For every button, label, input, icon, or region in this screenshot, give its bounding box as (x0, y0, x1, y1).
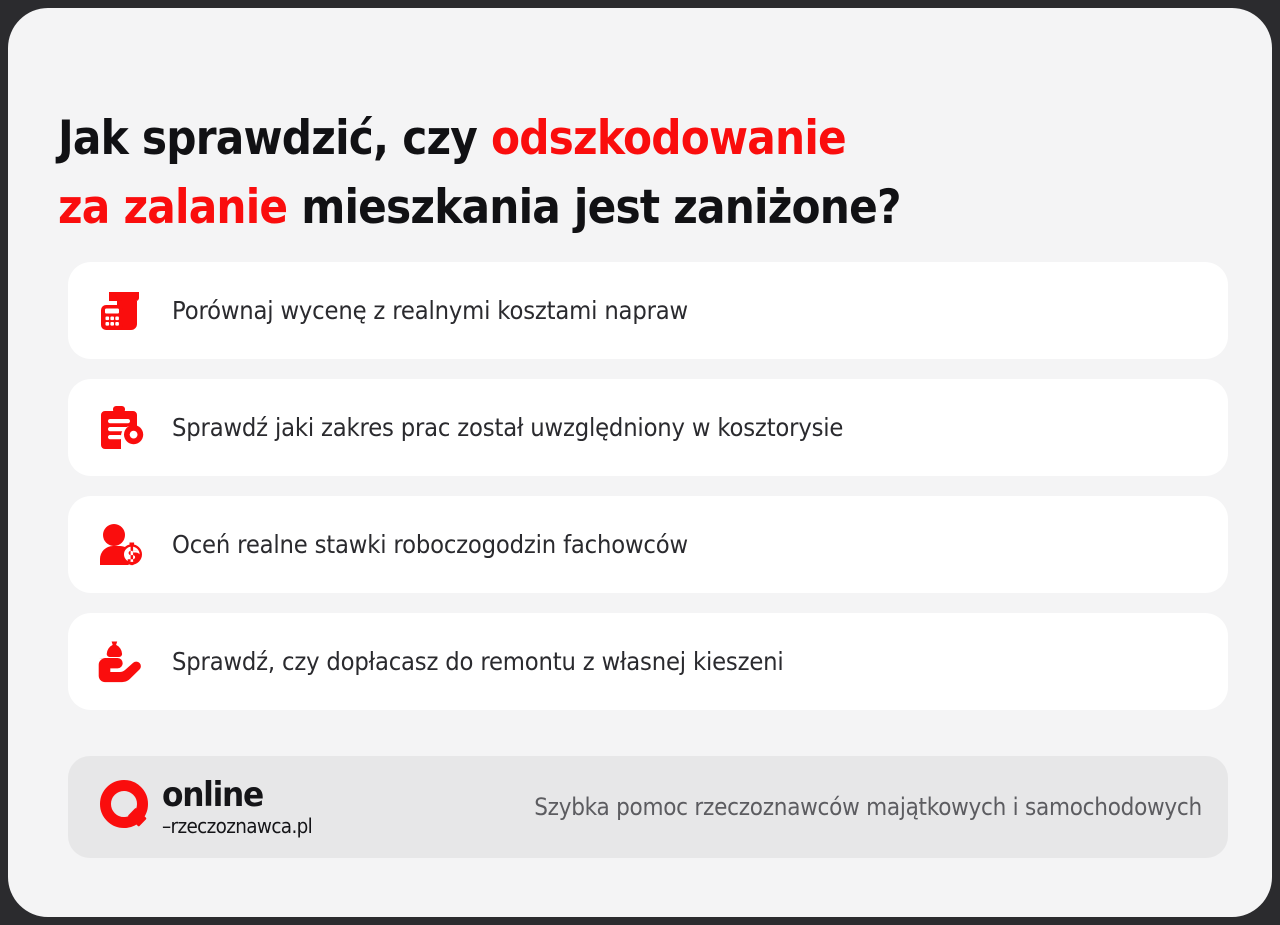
invoice-calculator-icon (68, 262, 172, 359)
list-item-label: Porównaj wycenę z realnymi kosztami napr… (172, 296, 688, 325)
list-item[interactable]: Sprawdź jaki zakres prac został uwzględn… (68, 379, 1228, 476)
headline-line-2-plain: mieszkania jest zaniżone? (287, 180, 900, 235)
online-rzeczoznawca-q-logo-icon (98, 779, 154, 835)
infographic-panel: Jak sprawdzić, czy odszkodowanie za zala… (8, 8, 1272, 917)
footer-bar: online –rzeczoznawca.pl Szybka pomoc rze… (68, 756, 1228, 858)
list-item-label: Oceń realne stawki roboczogodzin fachowc… (172, 530, 688, 559)
brand-logo[interactable]: online –rzeczoznawca.pl (98, 778, 325, 836)
list-item[interactable]: Oceń realne stawki roboczogodzin fachowc… (68, 496, 1228, 593)
list-item-label: Sprawdź, czy dopłacasz do remontu z włas… (172, 647, 784, 676)
list-item[interactable]: Sprawdź, czy dopłacasz do remontu z włas… (68, 613, 1228, 710)
headline-line-1-accent: odszkodowanie (491, 111, 846, 166)
page-title: Jak sprawdzić, czy odszkodowanie za zala… (58, 105, 1048, 242)
person-dollar-icon (68, 496, 172, 593)
checklist: Porównaj wycenę z realnymi kosztami napr… (68, 262, 1228, 730)
brand-domain: –rzeczoznawca.pl (162, 816, 312, 836)
brand-text: online –rzeczoznawca.pl (162, 778, 325, 836)
headline-line-1-plain: Jak sprawdzić, czy (58, 111, 491, 166)
footer-tagline: Szybka pomoc rzeczoznawców majątkowych i… (534, 793, 1202, 821)
hand-money-icon (68, 613, 172, 710)
brand-name: online (162, 778, 312, 812)
clipboard-gear-icon (68, 379, 172, 476)
list-item-label: Sprawdź jaki zakres prac został uwzględn… (172, 413, 843, 442)
headline-line-2-accent: za zalanie (58, 180, 287, 235)
infographic-root: Jak sprawdzić, czy odszkodowanie za zala… (0, 0, 1280, 925)
list-item[interactable]: Porównaj wycenę z realnymi kosztami napr… (68, 262, 1228, 359)
